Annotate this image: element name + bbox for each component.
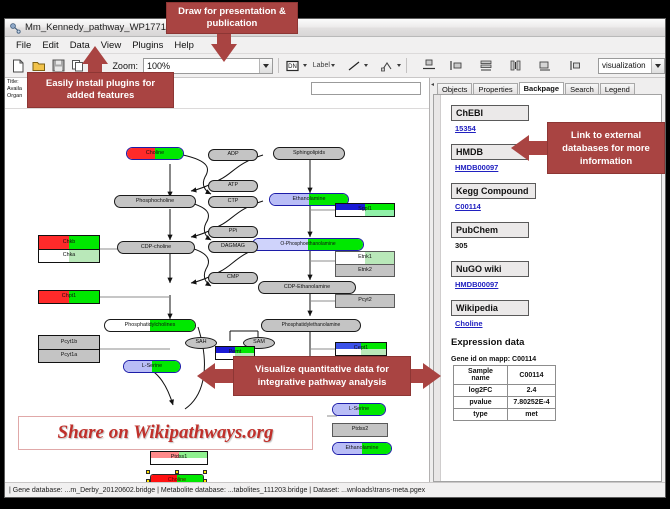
node-label: SAH: [195, 340, 206, 345]
db-link-kegg-compound[interactable]: C00114: [455, 202, 655, 211]
line-tool[interactable]: [345, 57, 368, 75]
db-link-nugo-wiki[interactable]: HMDB00097: [455, 280, 655, 289]
zoom-value: 100%: [147, 61, 170, 71]
visualization-value: visualization: [602, 61, 646, 70]
gene-pcyt2[interactable]: Pcyt2: [335, 294, 395, 308]
chevron-down-icon[interactable]: [303, 64, 307, 67]
visualization-combobox[interactable]: visualization: [598, 58, 665, 74]
datanode-tool[interactable]: DN: [284, 57, 307, 75]
gene-cept1[interactable]: Cept1: [335, 342, 387, 356]
cell-value: 2.4: [508, 385, 556, 397]
tab-properties[interactable]: Properties: [473, 83, 517, 95]
same-width-icon[interactable]: [507, 57, 525, 75]
node-label: Ethanolamine: [293, 197, 326, 202]
share-text: Share on Wikipathways.org: [58, 422, 274, 444]
node-label: CMP: [227, 275, 239, 280]
node-label: CDP-choline: [141, 245, 171, 250]
callout-visualize: Visualize quantitative data for integrat…: [233, 356, 411, 396]
resize-handle-nw[interactable]: [146, 470, 150, 474]
cell-key: pvalue: [454, 397, 508, 409]
toolbar-separator: [278, 58, 279, 73]
db-header-chebi: ChEBI: [451, 105, 529, 121]
pathvisio-app-icon: [9, 22, 21, 34]
db-header-wikipedia: Wikipedia: [451, 300, 529, 316]
gene-label: Pcyt1a: [61, 353, 77, 358]
statusbar: | Gene database: ...m_Derby_20120602.bri…: [5, 482, 665, 497]
gene-etnk1[interactable]: Etnk1: [336, 252, 394, 264]
gene-label: Cept1: [354, 346, 368, 351]
cell-key: log2FC: [454, 385, 508, 397]
node-atp[interactable]: ATP: [208, 180, 258, 192]
chevron-down-icon[interactable]: [397, 64, 401, 67]
node-label: L-Serine: [142, 364, 162, 369]
shape-icon[interactable]: [378, 57, 396, 75]
node-label: DAGMAG: [221, 244, 245, 249]
resize-handle-e[interactable]: [203, 479, 207, 482]
info-label-organism: Organ: [7, 93, 22, 100]
svg-text:DN: DN: [288, 64, 297, 70]
node-cdp-ethanolamine[interactable]: CDP-Ethanolamine: [258, 281, 356, 294]
menu-edit[interactable]: Edit: [37, 39, 64, 52]
node-o-phosphoethanolamine[interactable]: O-Phosphoethanolamine: [252, 238, 364, 251]
gene-etnk2[interactable]: Etnk2: [336, 264, 394, 276]
node-label: ATP: [228, 183, 238, 188]
node-adp[interactable]: ADP: [208, 149, 258, 161]
zoom-label: Zoom:: [112, 61, 138, 71]
statusbar-text: | Gene database: ...m_Derby_20120602.bri…: [9, 487, 425, 494]
gene-label: Etnk2: [358, 268, 372, 273]
node-label: Choline: [146, 151, 164, 156]
gene-group-chk[interactable]: Chkb Chka: [38, 235, 100, 263]
cell-value: met: [508, 409, 556, 421]
gene-label: Ptdss1: [171, 455, 187, 460]
db-header-kegg-compound: Kegg Compound: [451, 183, 536, 199]
node-label: O-Phosphoethanolamine: [280, 242, 335, 247]
new-pathway-button[interactable]: [10, 57, 28, 75]
node-sphingolipids[interactable]: Sphingolipids: [273, 147, 345, 160]
gene-pcyt1b[interactable]: Pcyt1b: [39, 336, 99, 349]
gene-chpt1[interactable]: Chpt1: [38, 290, 100, 304]
gene-label: Sgpl1: [358, 207, 372, 212]
label-tool[interactable]: Label: [313, 62, 335, 69]
node-phosphatidylethanolamine[interactable]: Phosphatidylethanolamine: [261, 319, 361, 332]
gene-group-etnk[interactable]: Etnk1 Etnk2: [335, 251, 395, 277]
db-value-pubchem: 305: [455, 241, 655, 250]
table-row: log2FC 2.4: [454, 385, 556, 397]
pathway-info-labels: Title: Availa Organ: [7, 79, 22, 101]
menu-help[interactable]: Help: [169, 39, 200, 52]
callout-share: Share on Wikipathways.org: [18, 416, 313, 450]
gene-label: Pcyt2: [358, 298, 371, 303]
pathway-title-field[interactable]: [311, 82, 421, 95]
db-header-nugo-wiki: NuGO wiki: [451, 261, 529, 277]
node-label: Ethanolamine: [346, 446, 379, 451]
node-l-serine-right[interactable]: L-Serine: [332, 403, 386, 416]
tab-overflow-icon[interactable]: ◂: [431, 81, 434, 88]
gene-label: Pemt: [229, 350, 242, 355]
expression-data-title: Expression data: [451, 337, 655, 348]
node-choline-top[interactable]: Choline: [126, 147, 184, 160]
node-phosphocholine[interactable]: Phosphocholine: [114, 195, 196, 208]
align-bottom-icon[interactable]: [420, 57, 438, 75]
gene-label: Pcyt1b: [61, 340, 77, 345]
callout-plugins: Easily install plugins for added feature…: [27, 72, 174, 108]
node-label: ADP: [227, 152, 238, 157]
resize-handle-n[interactable]: [175, 470, 179, 474]
node-ppi[interactable]: PPi: [208, 226, 258, 238]
callout-visualize-arrow-right: [423, 363, 441, 389]
tab-search[interactable]: Search: [565, 83, 599, 95]
resize-handle-w[interactable]: [146, 479, 150, 482]
info-label-availability: Availa: [7, 86, 22, 93]
table-row: pvalue 7.80252E-4: [454, 397, 556, 409]
table-row: type met: [454, 409, 556, 421]
callout-plugins-arrow: [82, 46, 108, 64]
backpage-scrollbar[interactable]: [434, 95, 441, 481]
side-panel-tabstrip: ◂ Objects Properties Backpage Search Leg…: [430, 78, 665, 94]
node-cdp-choline[interactable]: CDP-choline: [117, 241, 195, 254]
callout-visualize-arrow: [197, 363, 215, 389]
gene-label: Chpt1: [62, 294, 76, 299]
gene-ptdss2[interactable]: Ptdss2: [332, 423, 388, 437]
info-label-title: Title:: [7, 79, 22, 86]
align-left-icon[interactable]: [448, 57, 466, 75]
callout-visualize-arrow-stem: [215, 369, 235, 383]
chevron-down-icon[interactable]: [651, 59, 664, 73]
window-titlebar: Mm_Kennedy_pathway_WP1771_45176.gpml: [5, 19, 665, 37]
tab-backpage[interactable]: Backpage: [519, 82, 564, 95]
node-label: PPi: [229, 229, 237, 234]
label-tool-label: Label: [313, 62, 330, 69]
node-ethanolamine-right[interactable]: Ethanolamine: [332, 442, 392, 455]
line-icon[interactable]: [345, 57, 363, 75]
gene-ptdss1[interactable]: Ptdss1: [150, 451, 208, 465]
gene-label: Ptdss2: [352, 427, 368, 432]
cell-value: C00114: [508, 366, 556, 385]
node-label: Phosphatidylethanolamine: [282, 323, 341, 328]
node-l-serine-left[interactable]: L-Serine: [123, 360, 181, 373]
node-label: SAM: [253, 340, 265, 345]
bring-to-front-icon[interactable]: [537, 57, 555, 75]
resize-handle-ne[interactable]: [203, 470, 207, 474]
gene-pcyt1a[interactable]: Pcyt1a: [39, 349, 99, 362]
gene-group-pcyt1[interactable]: Pcyt1b Pcyt1a: [38, 335, 100, 363]
node-label: Choline: [168, 478, 186, 482]
callout-links: Link to external databases for more info…: [547, 122, 665, 174]
gene-chka[interactable]: Chka: [39, 249, 99, 262]
gene-label: Chka: [63, 253, 76, 258]
callout-draw: Draw for presentation & publication: [166, 2, 298, 34]
toolbar-separator: [406, 58, 407, 73]
selection-group-choline[interactable]: Choline: [146, 470, 208, 482]
gene-chkb[interactable]: Chkb: [39, 236, 99, 249]
node-label: CDP-Ethanolamine: [284, 285, 330, 290]
tab-legend[interactable]: Legend: [600, 83, 635, 95]
cell-key: Sample name: [454, 366, 508, 385]
chevron-down-icon[interactable]: [364, 64, 368, 67]
node-choline-selected[interactable]: Choline: [150, 474, 204, 482]
node-label: Phosphatidylcholines: [125, 323, 176, 328]
node-sah[interactable]: SAH: [185, 337, 217, 349]
gene-label: Chkb: [63, 240, 76, 245]
node-label: L-Serine: [349, 407, 369, 412]
send-to-back-icon[interactable]: [566, 57, 584, 75]
tab-objects[interactable]: Objects: [437, 83, 472, 95]
node-phosphatidylcholines[interactable]: Phosphatidylcholines: [104, 319, 196, 332]
node-label: Sphingolipids: [293, 151, 325, 156]
screenshot-root: Mm_Kennedy_pathway_WP1771_45176.gpml Fil…: [0, 0, 670, 509]
menu-file[interactable]: File: [11, 39, 37, 52]
gene-label: Etnk1: [358, 255, 372, 260]
node-ctp[interactable]: CTP: [208, 196, 258, 208]
datanode-icon[interactable]: DN: [284, 57, 302, 75]
table-row: Sample name C00114: [454, 366, 556, 385]
gene-id-on-mapp: Gene id on mapp: C00114: [451, 356, 655, 363]
distribute-vertical-icon[interactable]: [477, 57, 495, 75]
gene-sgpl1[interactable]: Sgpl1: [335, 203, 395, 217]
node-cmp[interactable]: CMP: [208, 272, 258, 284]
chevron-down-icon[interactable]: [259, 59, 272, 73]
db-header-pubchem: PubChem: [451, 222, 529, 238]
chevron-down-icon[interactable]: [331, 64, 335, 67]
menu-plugins[interactable]: Plugins: [127, 39, 169, 52]
node-label: Phosphocholine: [136, 199, 174, 204]
cell-key: type: [454, 409, 508, 421]
cell-value: 7.80252E-4: [508, 397, 556, 409]
shape-tool[interactable]: [378, 57, 401, 75]
callout-draw-arrow: [211, 44, 237, 62]
expression-table: Sample name C00114 log2FC 2.4 pvalue 7.8…: [453, 365, 556, 421]
callout-links-arrow: [511, 135, 529, 161]
callout-links-arrow-stem: [529, 141, 549, 155]
db-link-wikipedia[interactable]: Choline: [455, 319, 655, 328]
node-label: CTP: [228, 199, 239, 204]
node-dagmag[interactable]: DAGMAG: [208, 241, 258, 253]
